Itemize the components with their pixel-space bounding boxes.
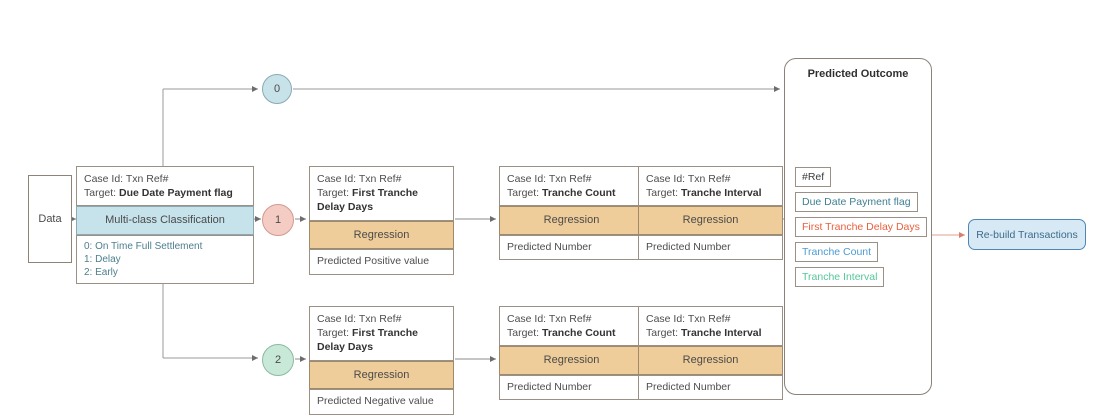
card-header: Case Id: Txn Ref# Target: Tranche Count — [499, 166, 644, 206]
card-output: Predicted Number — [638, 235, 783, 260]
card-target-value: Tranche Interval — [681, 327, 762, 339]
classification-header: Case Id: Txn Ref# Target: Due Date Payme… — [76, 166, 254, 206]
class-option-2: 2: Early — [84, 266, 247, 279]
card-model: Regression — [499, 346, 644, 375]
class-option-0: 0: On Time Full Settlement — [84, 240, 247, 253]
card-header: Case Id: Txn Ref# Target: Tranche Count — [499, 306, 644, 346]
card-target-prefix: Target: — [317, 327, 352, 339]
card-model: Regression — [638, 346, 783, 375]
classification-target-value: Due Date Payment flag — [119, 187, 233, 199]
branch-node-1-label: 1 — [275, 214, 281, 226]
regression-card-bottom-3: Case Id: Txn Ref# Target: Tranche Interv… — [638, 306, 783, 400]
regression-card-mid-1: Case Id: Txn Ref# Target: First Tranche … — [309, 166, 454, 275]
class-option-1: 1: Delay — [84, 253, 247, 266]
card-model: Regression — [499, 206, 644, 235]
classification-card: Case Id: Txn Ref# Target: Due Date Payme… — [76, 166, 254, 284]
classification-target: Target: Due Date Payment flag — [84, 186, 247, 200]
card-target-prefix: Target: — [507, 187, 542, 199]
classification-target-prefix: Target: — [84, 187, 119, 199]
card-case-id: Case Id: Txn Ref# — [646, 172, 776, 186]
card-case-id: Case Id: Txn Ref# — [317, 312, 447, 326]
card-header: Case Id: Txn Ref# Target: First Tranche … — [309, 166, 454, 221]
card-target-prefix: Target: — [317, 187, 352, 199]
regression-card-mid-2: Case Id: Txn Ref# Target: Tranche Count … — [499, 166, 644, 260]
data-source-box: Data — [28, 175, 72, 263]
branch-node-2: 2 — [262, 344, 294, 376]
card-output: Predicted Number — [499, 375, 644, 400]
outcome-field-ref: #Ref — [795, 167, 831, 187]
regression-card-bottom-1: Case Id: Txn Ref# Target: First Tranche … — [309, 306, 454, 415]
classification-model: Multi-class Classification — [76, 206, 254, 235]
card-model: Regression — [638, 206, 783, 235]
branch-node-2-label: 2 — [275, 354, 281, 366]
predicted-outcome-panel: Predicted Outcome #Ref Due Date Payment … — [784, 58, 932, 395]
outcome-field-due-date-payment-flag: Due Date Payment flag — [795, 192, 918, 212]
classification-case-id: Case Id: Txn Ref# — [84, 172, 247, 186]
branch-node-0: 0 — [262, 74, 292, 104]
card-case-id: Case Id: Txn Ref# — [507, 172, 637, 186]
outcome-field-tranche-interval: Tranche Interval — [795, 267, 884, 287]
card-case-id: Case Id: Txn Ref# — [507, 312, 637, 326]
regression-card-mid-3: Case Id: Txn Ref# Target: Tranche Interv… — [638, 166, 783, 260]
card-target-prefix: Target: — [507, 327, 542, 339]
card-model: Regression — [309, 221, 454, 250]
card-output: Predicted Positive value — [309, 249, 454, 274]
rebuild-transactions-box: Re-build Transactions — [968, 219, 1086, 250]
card-target-prefix: Target: — [646, 327, 681, 339]
card-case-id: Case Id: Txn Ref# — [317, 172, 447, 186]
card-output: Predicted Number — [638, 375, 783, 400]
card-header: Case Id: Txn Ref# Target: Tranche Interv… — [638, 306, 783, 346]
data-source-label: Data — [38, 213, 61, 225]
outcome-field-first-tranche-delay-days: First Tranche Delay Days — [795, 217, 927, 237]
rebuild-transactions-label: Re-build Transactions — [976, 229, 1078, 241]
card-model: Regression — [309, 361, 454, 390]
card-output: Predicted Number — [499, 235, 644, 260]
predicted-outcome-fields: #Ref Due Date Payment flag First Tranche… — [795, 167, 927, 292]
predicted-outcome-title: Predicted Outcome — [785, 68, 931, 80]
card-target-prefix: Target: — [646, 187, 681, 199]
diagram-canvas: Data Case Id: Txn Ref# Target: Due Date … — [0, 0, 1100, 414]
card-header: Case Id: Txn Ref# Target: Tranche Interv… — [638, 166, 783, 206]
regression-card-bottom-2: Case Id: Txn Ref# Target: Tranche Count … — [499, 306, 644, 400]
card-header: Case Id: Txn Ref# Target: First Tranche … — [309, 306, 454, 361]
branch-node-1: 1 — [262, 204, 294, 236]
branch-node-0-label: 0 — [274, 83, 280, 95]
card-output: Predicted Negative value — [309, 389, 454, 414]
card-target-value: Tranche Count — [542, 187, 616, 199]
card-target-value: Tranche Count — [542, 327, 616, 339]
card-target-value: Tranche Interval — [681, 187, 762, 199]
outcome-field-tranche-count: Tranche Count — [795, 242, 878, 262]
classification-classes: 0: On Time Full Settlement 1: Delay 2: E… — [76, 235, 254, 284]
card-case-id: Case Id: Txn Ref# — [646, 312, 776, 326]
